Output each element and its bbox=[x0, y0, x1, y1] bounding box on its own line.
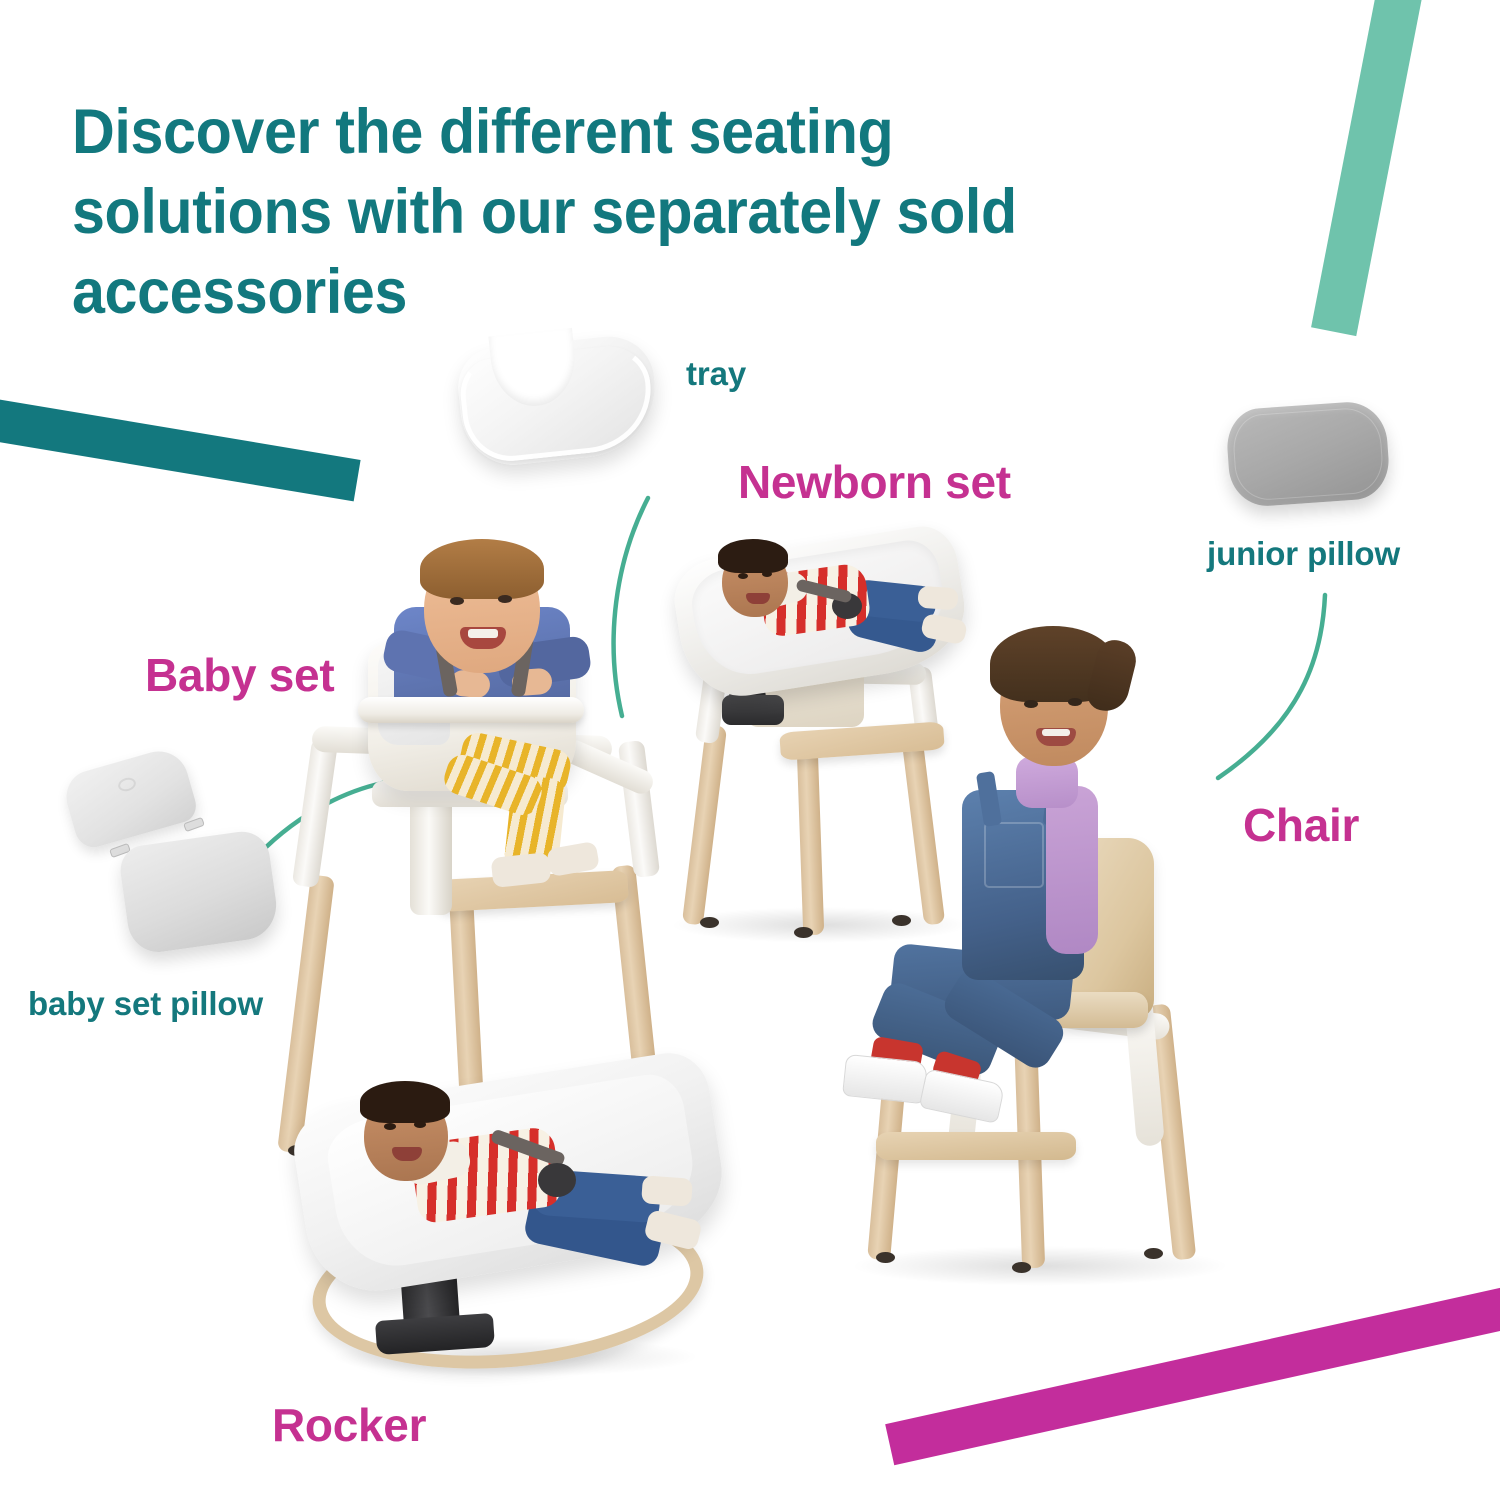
chair-foot bbox=[876, 1252, 895, 1263]
label-junior-pillow: junior pillow bbox=[1207, 535, 1400, 573]
label-chair: Chair bbox=[1243, 798, 1359, 852]
baby-hair bbox=[420, 539, 544, 599]
label-baby-set-pillow: baby set pillow bbox=[28, 985, 263, 1023]
baby-teeth bbox=[468, 629, 498, 638]
decorative-bar-top-right bbox=[1311, 0, 1425, 336]
product-baby-set-pillow bbox=[62, 758, 292, 958]
infant-mouth bbox=[392, 1147, 422, 1161]
newborn-set-adapter bbox=[722, 695, 784, 725]
junior-pillow-seam bbox=[1231, 406, 1385, 502]
baby-set-pillow-seatpad bbox=[117, 828, 281, 956]
label-baby-set: Baby set bbox=[145, 648, 334, 702]
highchair-center-column bbox=[410, 795, 452, 915]
child-shoe bbox=[919, 1068, 1006, 1124]
product-junior-pillow bbox=[1228, 405, 1393, 515]
baby-set-front-bar bbox=[358, 697, 584, 723]
chair-footrest bbox=[876, 1132, 1076, 1160]
infant-eye bbox=[414, 1121, 426, 1128]
child-eye bbox=[1024, 700, 1038, 708]
infant-sock bbox=[641, 1175, 693, 1206]
product-rocker bbox=[290, 1075, 740, 1395]
decorative-bar-left bbox=[0, 391, 361, 502]
label-newborn-set: Newborn set bbox=[738, 455, 1011, 509]
newborn-chair-leg bbox=[682, 724, 727, 925]
baby-eye bbox=[498, 595, 512, 603]
marketing-image: Discover the different seating solutions… bbox=[0, 0, 1500, 1500]
page-title: Discover the different seating solutions… bbox=[72, 92, 1125, 332]
child-teeth bbox=[1042, 729, 1070, 736]
overalls-pocket bbox=[984, 822, 1044, 888]
product-chair bbox=[830, 600, 1250, 1300]
child-eye bbox=[1068, 698, 1082, 706]
infant-eye bbox=[738, 573, 748, 579]
newborn-chair-foot bbox=[700, 917, 719, 928]
chair-foot bbox=[1144, 1248, 1163, 1259]
label-rocker: Rocker bbox=[272, 1398, 426, 1452]
harness-buckle bbox=[538, 1163, 576, 1197]
infant-eye bbox=[762, 571, 772, 577]
product-tray bbox=[452, 330, 667, 475]
chair-foot bbox=[1012, 1262, 1031, 1273]
infant-eye bbox=[384, 1123, 396, 1130]
newborn-chair-foot bbox=[794, 927, 813, 938]
highchair-frame-tube bbox=[292, 738, 338, 888]
child-sleeve bbox=[1046, 786, 1098, 954]
baby-set-pillow-backrest bbox=[60, 744, 200, 851]
infant-hair bbox=[360, 1081, 450, 1123]
baby-eye bbox=[450, 597, 464, 605]
infant-mouth bbox=[746, 593, 770, 604]
infant-hair bbox=[718, 539, 788, 573]
child-shoe bbox=[842, 1054, 928, 1104]
baby-sock bbox=[491, 852, 552, 888]
label-tray: tray bbox=[686, 355, 746, 393]
